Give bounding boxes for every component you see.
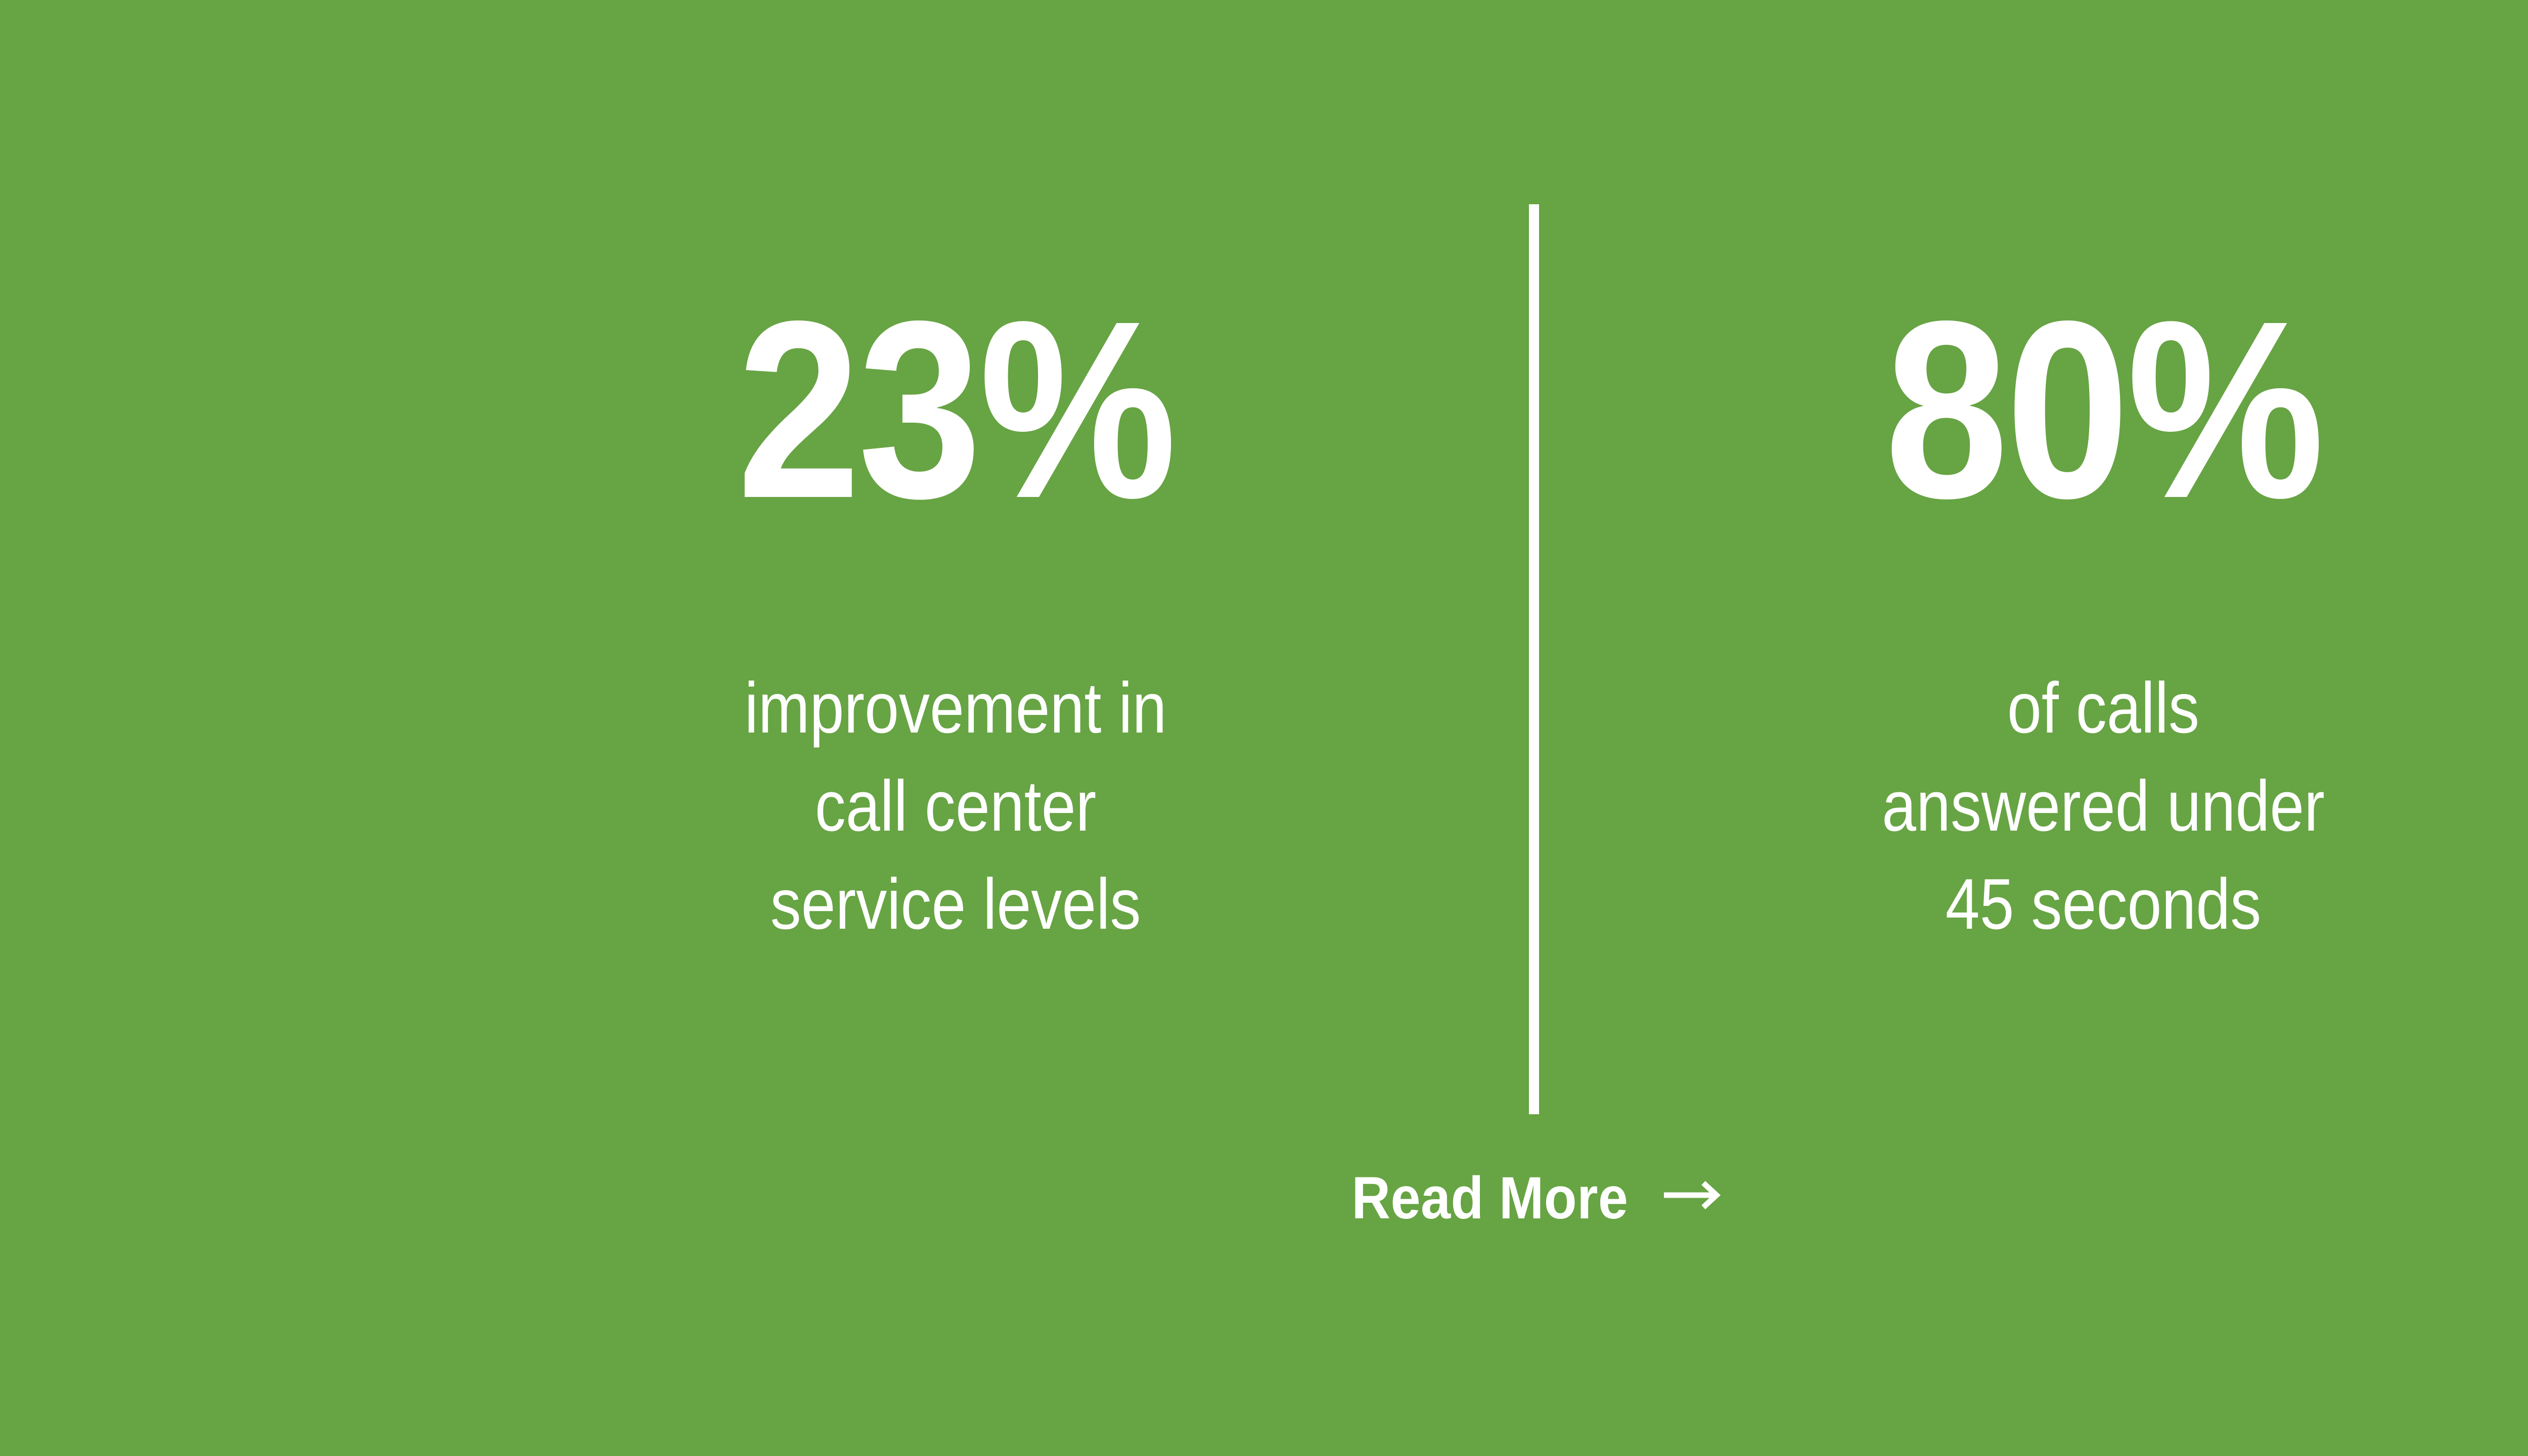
stats-banner: 23% improvement in call center service l… [0,0,2528,1456]
stats-row: 23% improvement in call center service l… [0,0,2528,1456]
stat-caption-right-line-3: 45 seconds [1734,855,2473,953]
arrow-right-icon [1663,1179,1723,1211]
stat-caption-right-line-1: of calls [1734,659,2473,757]
stat-value-right: 80% [1725,283,2481,536]
stat-caption-left: improvement in call center service level… [586,659,1325,953]
read-more-link[interactable]: Read More [1226,1168,1833,1228]
stat-caption-left-line-1: improvement in [586,659,1325,757]
stat-caption-right-line-2: answered under [1734,757,2473,855]
stat-caption-left-line-2: call center [586,757,1325,855]
vertical-divider [1529,204,1539,1114]
read-more-label: Read More [1351,1168,1628,1228]
stat-block-left: 23% improvement in call center service l… [526,283,1385,953]
stat-caption-right: of calls answered under 45 seconds [1734,659,2473,953]
stat-block-right: 80% of calls answered under 45 seconds [1674,283,2528,953]
stat-value-left: 23% [577,283,1334,536]
stat-caption-left-line-3: service levels [586,855,1325,953]
